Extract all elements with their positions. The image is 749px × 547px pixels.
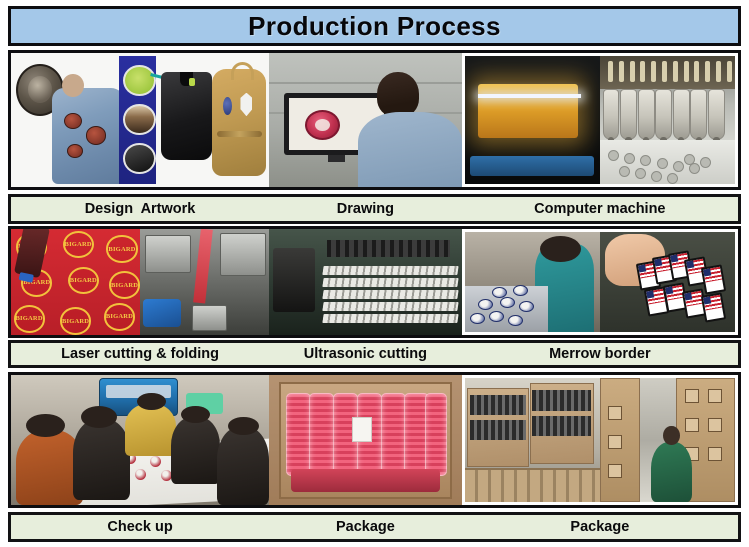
bigard-logo-text-5: BIGARD bbox=[70, 277, 97, 284]
bigard-logo-text-3: BIGARD bbox=[108, 246, 135, 253]
label-cell-check-up: Check up bbox=[11, 515, 269, 539]
panel-laser-cutting-folding: BIGARD BIGARD BIGARD BIGARD BIGARD BIGAR… bbox=[11, 229, 269, 335]
label-ultrasonic-cutting: Ultrasonic cutting bbox=[304, 346, 427, 362]
thumb-lime-patch bbox=[123, 65, 155, 96]
bigard-logo-text-2: BIGARD bbox=[65, 241, 92, 248]
denim-jacket-image bbox=[52, 88, 124, 184]
label-row-1: Design Artwork Drawing Computer machine bbox=[8, 194, 741, 224]
check-up-photo bbox=[11, 375, 269, 505]
label-row-3: Check up Package Package bbox=[8, 512, 741, 542]
merrow-sewing-photo bbox=[465, 232, 600, 332]
bigard-logo-text-8: BIGARD bbox=[62, 318, 89, 325]
panel-drawing bbox=[269, 53, 462, 187]
panel-check-up bbox=[11, 375, 269, 505]
backpack-image bbox=[212, 69, 266, 176]
bigard-fabric-photo: BIGARD BIGARD BIGARD BIGARD BIGARD BIGAR… bbox=[11, 229, 140, 335]
worker-2 bbox=[73, 419, 130, 500]
thumb-stack-patch bbox=[123, 104, 155, 135]
label-drawing: Drawing bbox=[337, 201, 394, 217]
exposure-machine-photo bbox=[465, 56, 600, 184]
label-cell-package-2: Package bbox=[462, 515, 738, 539]
page-title: Production Process bbox=[248, 11, 501, 42]
label-package-1: Package bbox=[336, 519, 395, 535]
warehouse-aisle-photo bbox=[600, 378, 735, 502]
label-cell-laser-cutting-folding: Laser cutting & folding bbox=[11, 343, 269, 365]
photo-row-1 bbox=[8, 50, 741, 190]
warehouse-worker bbox=[651, 442, 692, 502]
label-merrow-border: Merrow border bbox=[549, 346, 651, 362]
label-cell-drawing: Drawing bbox=[269, 197, 462, 221]
label-cell-package-1: Package bbox=[269, 515, 462, 539]
worker-4 bbox=[171, 417, 220, 485]
photo-row-3 bbox=[8, 372, 741, 508]
label-check-up: Check up bbox=[107, 519, 172, 535]
panel-computer-machine bbox=[462, 53, 738, 187]
polo-shirt-image bbox=[161, 72, 213, 160]
label-design-artwork: Design Artwork bbox=[85, 201, 196, 217]
panel-package-1 bbox=[269, 375, 462, 505]
panel-package-2 bbox=[462, 375, 738, 505]
panel-design-artwork bbox=[11, 53, 269, 187]
bigard-logo-text-6: BIGARD bbox=[111, 282, 138, 289]
panel-merrow-border bbox=[462, 229, 738, 335]
drawing-photo bbox=[269, 53, 462, 187]
photo-row-2: BIGARD BIGARD BIGARD BIGARD BIGARD BIGAR… bbox=[8, 226, 741, 338]
ultrasonic-machine-photo bbox=[269, 229, 462, 335]
label-cell-merrow-border: Merrow border bbox=[462, 343, 738, 365]
folding-machine-photo bbox=[140, 229, 269, 335]
package-label-tag bbox=[352, 417, 373, 442]
flag-patches-photo bbox=[600, 232, 735, 332]
label-laser-cutting-folding: Laser cutting & folding bbox=[61, 346, 219, 362]
bigard-logo-text-9: BIGARD bbox=[106, 313, 133, 320]
worker-3 bbox=[125, 404, 177, 456]
package-carton-photo bbox=[269, 375, 462, 505]
label-row-2: Laser cutting & folding Ultrasonic cutti… bbox=[8, 340, 741, 368]
page-title-banner: Production Process bbox=[8, 6, 741, 46]
label-cell-design-artwork: Design Artwork bbox=[11, 197, 269, 221]
carton-pallets-photo bbox=[465, 378, 600, 502]
label-cell-ultrasonic-cutting: Ultrasonic cutting bbox=[269, 343, 462, 365]
label-cell-computer-machine: Computer machine bbox=[462, 197, 738, 221]
designer-body bbox=[358, 112, 462, 187]
design-artwork-photo bbox=[11, 53, 269, 187]
embroidery-machine-photo bbox=[600, 56, 735, 184]
label-package-2: Package bbox=[570, 519, 629, 535]
designer-head bbox=[377, 72, 419, 118]
bigard-logo-text-7: BIGARD bbox=[16, 315, 43, 322]
thumb-dark-patch bbox=[123, 143, 155, 174]
worker-5 bbox=[217, 427, 269, 505]
production-process-infographic: Production Process bbox=[0, 0, 749, 547]
label-computer-machine: Computer machine bbox=[534, 201, 665, 217]
panel-ultrasonic-cutting bbox=[269, 229, 462, 335]
